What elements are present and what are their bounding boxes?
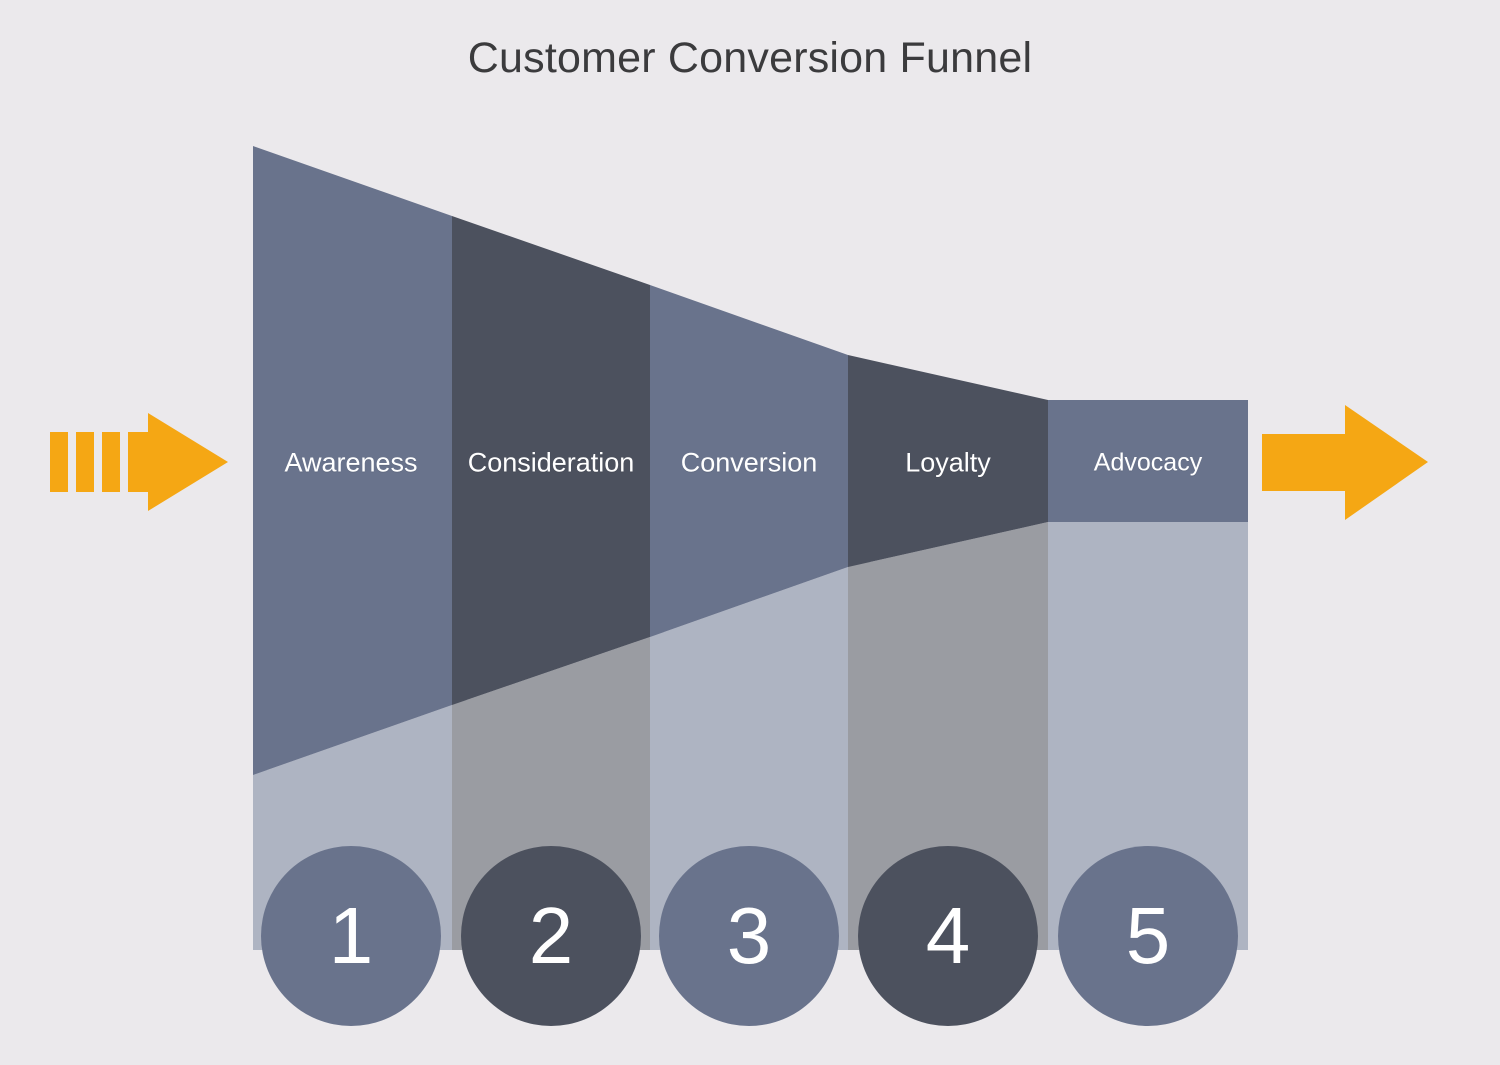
- inflow-arrow[interactable]: [50, 413, 228, 511]
- stage-label-loyalty: Loyalty: [905, 450, 991, 477]
- step-number-3: 3: [727, 896, 772, 976]
- stage-label-advocacy: Advocacy: [1094, 451, 1202, 476]
- funnel-diagram-canvas: Customer Conversion Funnel: [0, 0, 1500, 1065]
- step-number-2: 2: [529, 896, 574, 976]
- stage-label-awareness: Awareness: [284, 450, 417, 477]
- step-number-4: 4: [926, 896, 971, 976]
- inflow-arrow-head: [140, 413, 228, 511]
- stage-label-consideration: Consideration: [468, 450, 635, 477]
- outflow-arrow[interactable]: [1262, 405, 1428, 520]
- outflow-arrow-shape: [1262, 405, 1428, 520]
- step-number-1: 1: [329, 896, 374, 976]
- inflow-bar-1: [50, 432, 68, 492]
- step-number-5: 5: [1126, 896, 1171, 976]
- stage-label-conversion: Conversion: [681, 450, 818, 477]
- inflow-bar-3: [102, 432, 120, 492]
- inflow-bar-2: [76, 432, 94, 492]
